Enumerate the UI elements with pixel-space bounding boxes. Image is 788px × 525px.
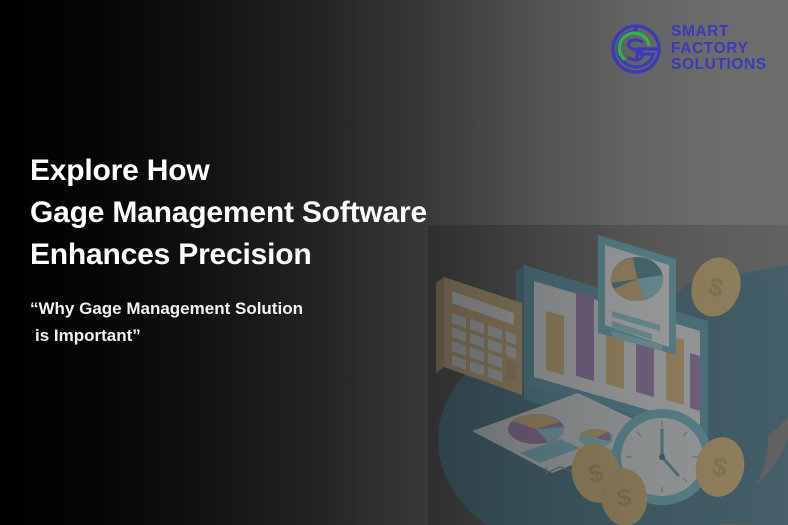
subtitle-line-2: is Important” — [30, 322, 450, 349]
logo-wordmark: SMART FACTORY SOLUTIONS — [671, 24, 767, 74]
page-title: Explore How Gage Management Software Enh… — [30, 150, 500, 276]
doc-pie-chart-large — [508, 414, 564, 444]
subtitle-quote: “Why Gage Management Solution is Importa… — [30, 295, 450, 349]
headline-line-1: Explore How — [30, 150, 500, 192]
logo-line-solutions: SOLUTIONS — [671, 57, 767, 74]
pie-chart — [611, 257, 664, 301]
marketing-banner: $ $ $ $ — [0, 0, 788, 525]
logo-line-factory: FACTORY — [671, 41, 767, 58]
headline-line-2: Gage Management Software — [30, 192, 500, 234]
brand-logo[interactable]: SMART FACTORY SOLUTIONS — [608, 18, 768, 80]
subtitle-line-1: “Why Gage Management Solution — [30, 295, 450, 322]
smart-factory-logo-icon — [608, 21, 664, 77]
headline-line-3: Enhances Precision — [30, 234, 500, 276]
logo-line-smart: SMART — [671, 24, 767, 41]
